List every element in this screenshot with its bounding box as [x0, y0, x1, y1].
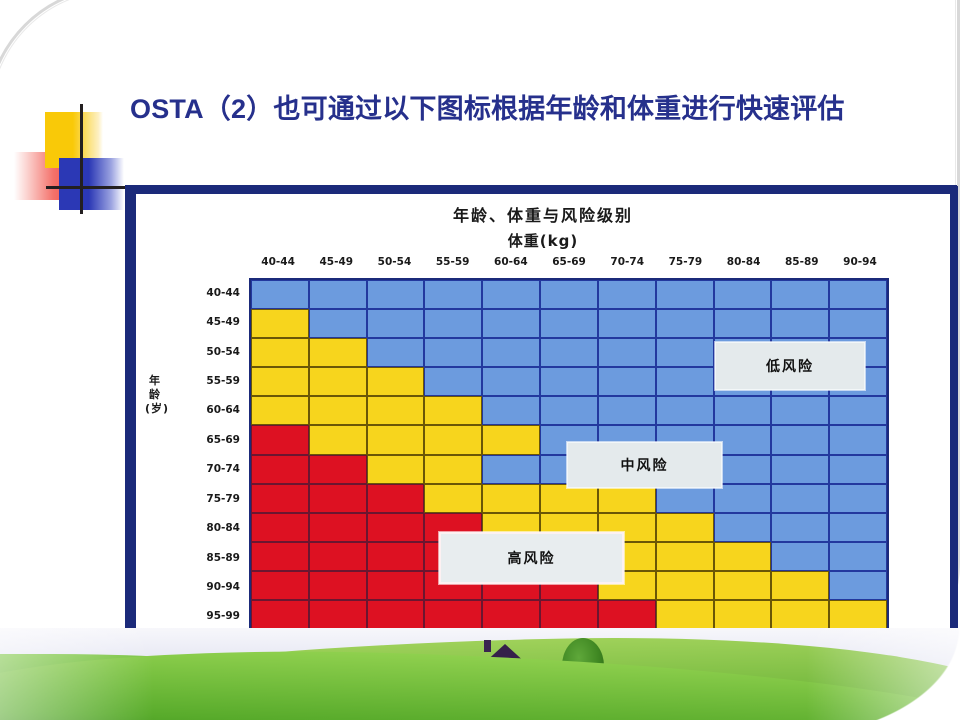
row-header: 45-49 — [171, 307, 245, 336]
heatmap-cell — [251, 309, 309, 338]
heatmap-cell — [714, 425, 772, 454]
row-header: 90-94 — [171, 572, 245, 601]
row-header: 60-64 — [171, 396, 245, 425]
heatmap-cell — [482, 425, 540, 454]
heatmap-cell — [771, 542, 829, 571]
heatmap-cell — [656, 542, 714, 571]
heatmap-cell — [367, 513, 425, 542]
heatmap-cell — [714, 309, 772, 338]
column-header: 40-44 — [249, 256, 307, 278]
heatmap-cell — [598, 338, 656, 367]
heatmap-cell — [424, 455, 482, 484]
heatmap-cell — [829, 396, 887, 425]
heatmap-cell — [656, 338, 714, 367]
heatmap-cell — [251, 396, 309, 425]
heatmap-cell — [482, 455, 540, 484]
landscape-footer-graphic — [0, 628, 960, 720]
heatmap-cell — [540, 338, 598, 367]
heatmap-cell — [251, 571, 309, 600]
heatmap-cell — [367, 280, 425, 309]
y-axis-label: 年龄(岁) — [145, 374, 165, 415]
row-header: 95-99 — [171, 602, 245, 631]
column-header: 60-64 — [482, 256, 540, 278]
heatmap-cell — [367, 484, 425, 513]
low-risk-callout: 低风险 — [715, 342, 865, 390]
heatmap-cell — [482, 309, 540, 338]
heatmap-cell — [482, 600, 540, 629]
heatmap-cell — [714, 280, 772, 309]
heatmap-cell — [424, 396, 482, 425]
column-header: 75-79 — [656, 256, 714, 278]
heatmap-cell — [771, 513, 829, 542]
risk-chart-canvas: 年龄、体重与风险级别 体重(kg) 年龄(岁) 40-4445-4950-545… — [136, 194, 950, 646]
heatmap-cell — [540, 396, 598, 425]
row-header: 55-59 — [171, 366, 245, 395]
heatmap-cell — [251, 455, 309, 484]
heatmap-cell — [424, 280, 482, 309]
heatmap-cell — [656, 367, 714, 396]
heatmap-cell — [367, 571, 425, 600]
heatmap-cell — [309, 280, 367, 309]
heatmap-cell — [829, 484, 887, 513]
heatmap-cell — [482, 338, 540, 367]
heatmap-cell — [309, 455, 367, 484]
column-headers: 40-4445-4950-5455-5960-6465-6970-7475-79… — [249, 256, 889, 278]
heatmap-cell — [367, 396, 425, 425]
chart-title: 年龄、体重与风险级别 — [136, 202, 950, 226]
heatmap-cell — [309, 367, 367, 396]
row-header: 65-69 — [171, 425, 245, 454]
heatmap-cell — [482, 484, 540, 513]
row-header: 70-74 — [171, 455, 245, 484]
heatmap-cell — [309, 542, 367, 571]
heatmap-cell — [771, 309, 829, 338]
column-header: 80-84 — [715, 256, 773, 278]
heatmap-cell — [309, 571, 367, 600]
heatmap-cell — [771, 455, 829, 484]
column-header: 70-74 — [598, 256, 656, 278]
heatmap-cell — [598, 396, 656, 425]
heatmap-cell — [424, 425, 482, 454]
crosshair-vertical-line — [80, 104, 83, 214]
row-header: 80-84 — [171, 513, 245, 542]
chart-subtitle: 体重(kg) — [136, 230, 950, 251]
row-header: 85-89 — [171, 543, 245, 572]
landscape-corner-mask — [780, 628, 960, 720]
heatmap-cell — [482, 280, 540, 309]
heatmap-cell — [829, 309, 887, 338]
heatmap-cell — [309, 309, 367, 338]
column-header: 45-49 — [307, 256, 365, 278]
heatmap-cell — [771, 280, 829, 309]
heatmap-cell — [251, 600, 309, 629]
blue-square-decoration — [59, 158, 124, 210]
heatmap-cell — [251, 425, 309, 454]
heatmap-cell — [251, 280, 309, 309]
heatmap-cell — [251, 484, 309, 513]
row-header: 40-44 — [171, 278, 245, 307]
heatmap-cell — [656, 396, 714, 425]
heatmap-cell — [309, 484, 367, 513]
column-header: 50-54 — [365, 256, 423, 278]
heatmap-cell — [656, 513, 714, 542]
heatmap-cell — [251, 542, 309, 571]
heatmap-cell — [367, 455, 425, 484]
heatmap-cell — [367, 338, 425, 367]
row-header: 50-54 — [171, 337, 245, 366]
heatmap-cell — [367, 309, 425, 338]
heatmap-cell — [424, 367, 482, 396]
heatmap-cell — [656, 571, 714, 600]
heatmap-cell — [771, 396, 829, 425]
column-header: 90-94 — [831, 256, 889, 278]
heatmap-cell — [771, 571, 829, 600]
crosshair-horizontal-line — [46, 186, 128, 189]
heatmap-cell — [598, 309, 656, 338]
heatmap-cell — [771, 484, 829, 513]
heatmap-cell — [598, 600, 656, 629]
heatmap-cell — [309, 338, 367, 367]
page-title: OSTA（2）也可通过以下图标根据年龄和体重进行快速评估 — [130, 92, 930, 128]
heatmap-cell — [829, 425, 887, 454]
heatmap-cell — [829, 600, 887, 629]
slide: OSTA（2）也可通过以下图标根据年龄和体重进行快速评估 年龄、体重与风险级别 … — [0, 0, 960, 720]
heatmap-cell — [771, 600, 829, 629]
heatmap-cell — [829, 571, 887, 600]
heatmap-cell — [714, 513, 772, 542]
heatmap-cell — [540, 309, 598, 338]
heatmap-cell — [829, 280, 887, 309]
heatmap-cell — [714, 571, 772, 600]
heatmap-cell — [424, 484, 482, 513]
heatmap-cell — [714, 542, 772, 571]
heatmap-cell — [829, 542, 887, 571]
heatmap-cell — [829, 455, 887, 484]
heatmap-cell — [367, 600, 425, 629]
heatmap-cell — [714, 455, 772, 484]
heatmap-cell — [714, 396, 772, 425]
heatmap-cell — [309, 513, 367, 542]
heatmap-cell — [424, 600, 482, 629]
row-headers: 40-4445-4950-5455-5960-6465-6970-7475-79… — [171, 278, 245, 631]
heatmap-cell — [714, 484, 772, 513]
heatmap-cell — [656, 309, 714, 338]
heatmap-cell — [251, 513, 309, 542]
heatmap-cell — [251, 338, 309, 367]
heatmap-cell — [309, 600, 367, 629]
heatmap-cell — [598, 367, 656, 396]
risk-chart-image: 年龄、体重与风险级别 体重(kg) 年龄(岁) 40-4445-4950-545… — [128, 186, 958, 654]
heatmap-cell — [367, 542, 425, 571]
heatmap-cell — [656, 600, 714, 629]
column-header: 85-89 — [773, 256, 831, 278]
heatmap-cell — [367, 367, 425, 396]
heatmap-cell — [424, 338, 482, 367]
heatmap-cell — [598, 280, 656, 309]
heatmap-cell — [771, 425, 829, 454]
heatmap-cell — [714, 600, 772, 629]
heatmap-cell — [829, 513, 887, 542]
heatmap-cell — [367, 425, 425, 454]
heatmap-cell — [482, 367, 540, 396]
heatmap-cell — [540, 367, 598, 396]
row-header: 75-79 — [171, 484, 245, 513]
heatmap-cell — [656, 280, 714, 309]
column-header: 65-69 — [540, 256, 598, 278]
high-risk-callout: 高风险 — [439, 532, 624, 584]
heatmap-cell — [540, 280, 598, 309]
heatmap-cell — [309, 396, 367, 425]
heatmap-cell — [309, 425, 367, 454]
mid-risk-callout: 中风险 — [567, 442, 722, 488]
heatmap-cell — [424, 309, 482, 338]
heatmap-cell — [482, 396, 540, 425]
heatmap-grid-wrapper: 年龄(岁) 40-4445-4950-5455-5960-6465-6970-7… — [249, 256, 889, 631]
heatmap-cell — [540, 600, 598, 629]
heatmap-cell — [251, 367, 309, 396]
column-header: 55-59 — [424, 256, 482, 278]
